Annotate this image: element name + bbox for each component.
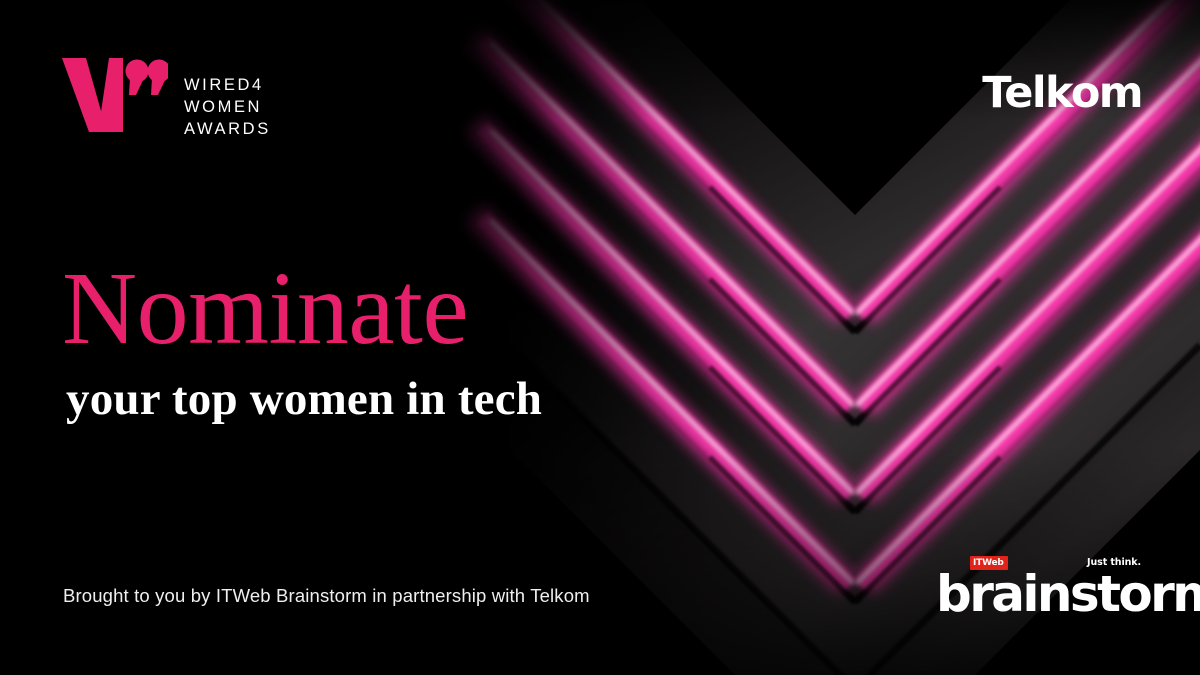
brainstorm-logo-top-row: ITWeb Just think. — [936, 556, 1142, 572]
award-wordmark-line-1: WIRED4 — [184, 75, 271, 97]
itweb-brainstorm-logo: ITWeb Just think. brainstorm — [936, 556, 1142, 619]
headline-block: Nominate your top women in tech — [62, 258, 542, 426]
credit-line: Brought to you by ITWeb Brainstorm in pa… — [63, 585, 590, 607]
wired4women-w-mark-icon — [60, 52, 168, 138]
telkom-logo: Telkom — [982, 72, 1142, 115]
wired4women-awards-logo: WIRED4 WOMEN AWARDS — [60, 52, 271, 141]
itweb-badge: ITWeb — [970, 556, 1008, 570]
award-wordmark: WIRED4 WOMEN AWARDS — [184, 52, 271, 141]
brainstorm-wordmark: brainstorm — [936, 569, 1142, 619]
nomination-banner: WIRED4 WOMEN AWARDS Telkom Nominate your… — [0, 0, 1200, 675]
headline-emphasis: Nominate — [62, 258, 542, 360]
headline-subline: your top women in tech — [66, 374, 542, 426]
brainstorm-tagline: Just think. — [1087, 557, 1141, 569]
award-wordmark-line-3: AWARDS — [184, 119, 271, 141]
award-wordmark-line-2: WOMEN — [184, 97, 271, 119]
